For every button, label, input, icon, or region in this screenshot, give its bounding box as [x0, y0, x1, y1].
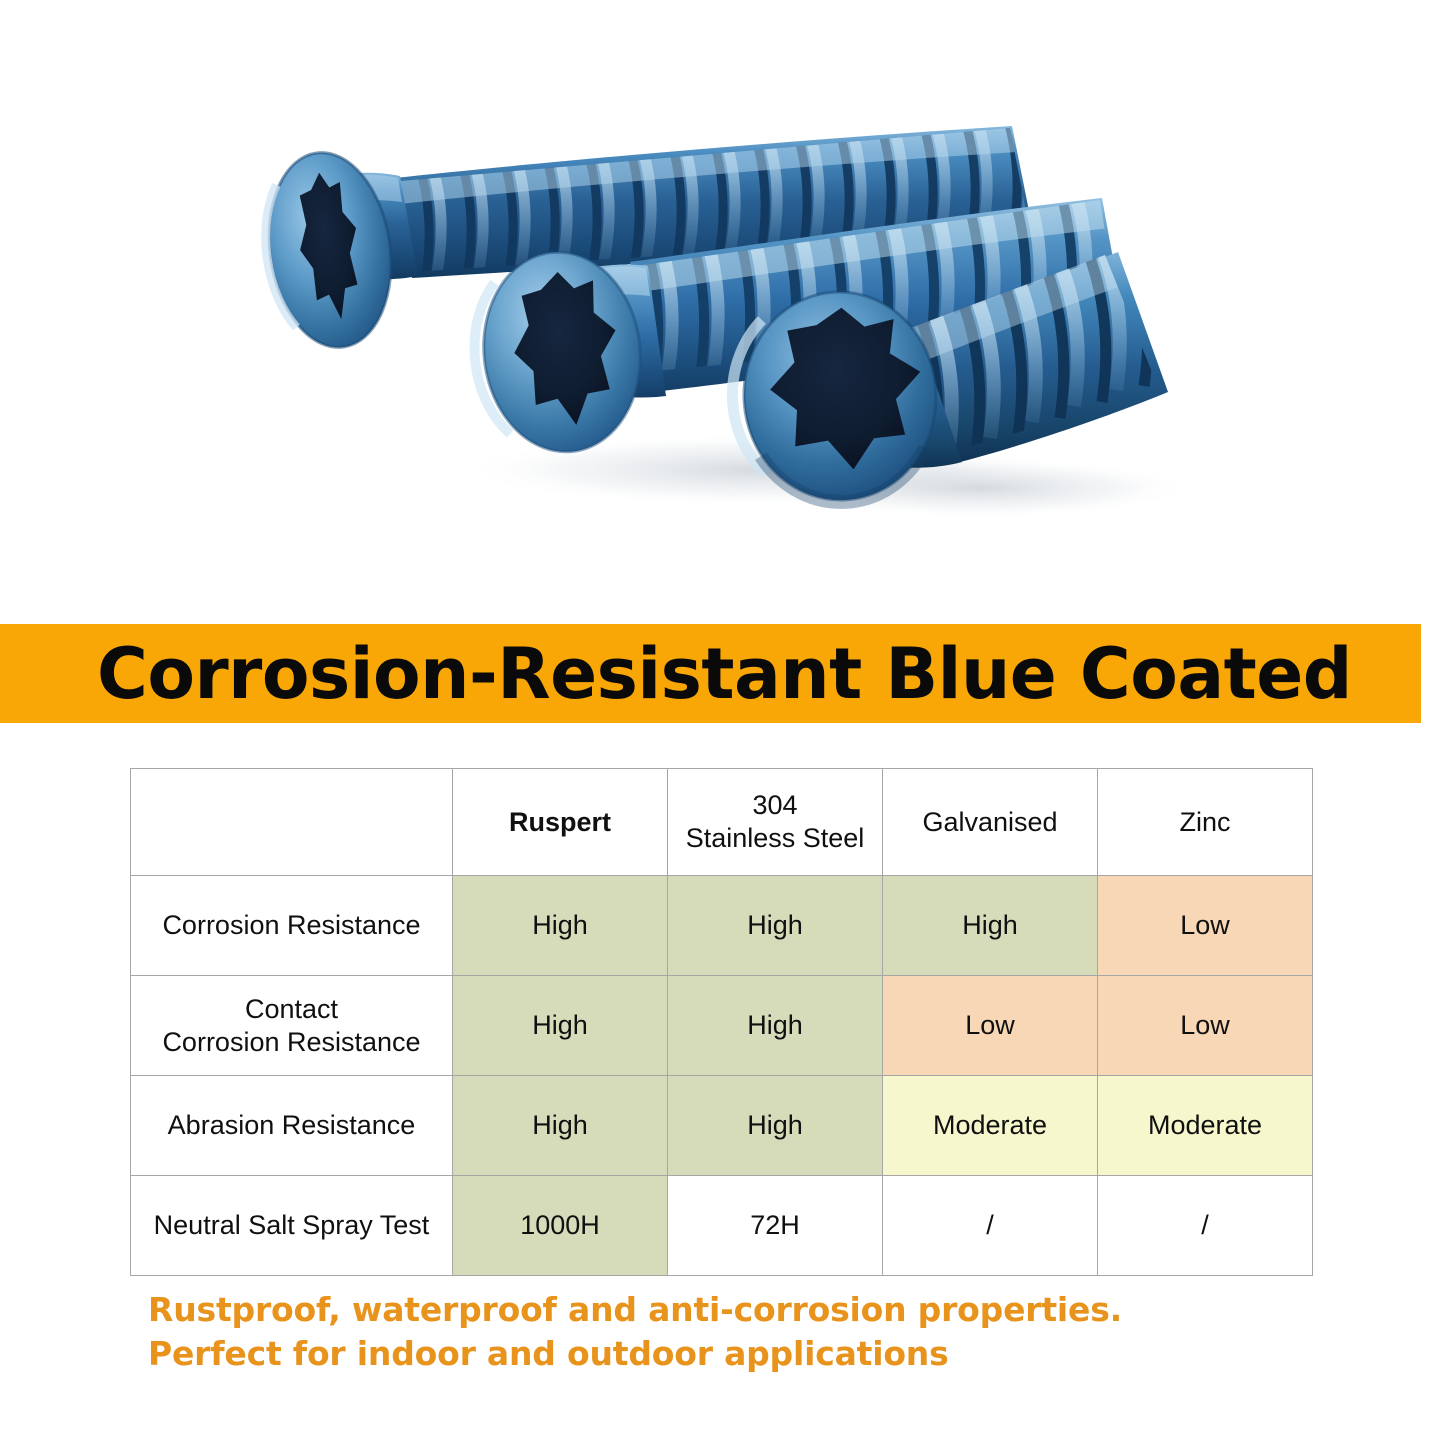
table-row: Abrasion Resistance High High Moderate M… [131, 1076, 1313, 1176]
screws-illustration [0, 0, 1445, 624]
column-header-zinc: Zinc [1098, 769, 1313, 876]
comparison-table-container: Ruspert 304 Stainless Steel Galvanised Z… [130, 768, 1312, 1276]
comparison-table: Ruspert 304 Stainless Steel Galvanised Z… [130, 768, 1313, 1276]
cell-abrasion-zinc: Moderate [1098, 1076, 1313, 1176]
cell-corrosion-galvanised: High [883, 876, 1098, 976]
cell-contact-stainless: High [668, 976, 883, 1076]
product-photo [0, 0, 1445, 624]
cell-salt-spray-stainless: 72H [668, 1176, 883, 1276]
table-row: Corrosion Resistance High High High Low [131, 876, 1313, 976]
title-banner: Corrosion-Resistant Blue Coated [0, 624, 1421, 723]
table-corner-cell [131, 769, 453, 876]
cell-contact-galvanised: Low [883, 976, 1098, 1076]
column-header-stainless-steel: 304 Stainless Steel [668, 769, 883, 876]
cell-salt-spray-galvanised: / [883, 1176, 1098, 1276]
row-label-abrasion-resistance: Abrasion Resistance [131, 1076, 453, 1176]
table-header-row: Ruspert 304 Stainless Steel Galvanised Z… [131, 769, 1313, 876]
feature-caption: Rustproof, waterproof and anti-corrosion… [148, 1288, 1122, 1375]
table-row: Neutral Salt Spray Test 1000H 72H / / [131, 1176, 1313, 1276]
cell-salt-spray-zinc: / [1098, 1176, 1313, 1276]
column-header-galvanised: Galvanised [883, 769, 1098, 876]
column-header-ruspert: Ruspert [453, 769, 668, 876]
table-row: Contact Corrosion Resistance High High L… [131, 976, 1313, 1076]
row-label-neutral-salt-spray-test: Neutral Salt Spray Test [131, 1176, 453, 1276]
row-label-contact-corrosion-resistance: Contact Corrosion Resistance [131, 976, 453, 1076]
cell-abrasion-ruspert: High [453, 1076, 668, 1176]
cell-abrasion-stainless: High [668, 1076, 883, 1176]
cell-corrosion-zinc: Low [1098, 876, 1313, 976]
cell-contact-zinc: Low [1098, 976, 1313, 1076]
cell-abrasion-galvanised: Moderate [883, 1076, 1098, 1176]
cell-contact-ruspert: High [453, 976, 668, 1076]
banner-title-text: Corrosion-Resistant Blue Coated [0, 639, 1352, 709]
row-label-corrosion-resistance: Corrosion Resistance [131, 876, 453, 976]
cell-corrosion-ruspert: High [453, 876, 668, 976]
cell-salt-spray-ruspert: 1000H [453, 1176, 668, 1276]
cell-corrosion-stainless: High [668, 876, 883, 976]
